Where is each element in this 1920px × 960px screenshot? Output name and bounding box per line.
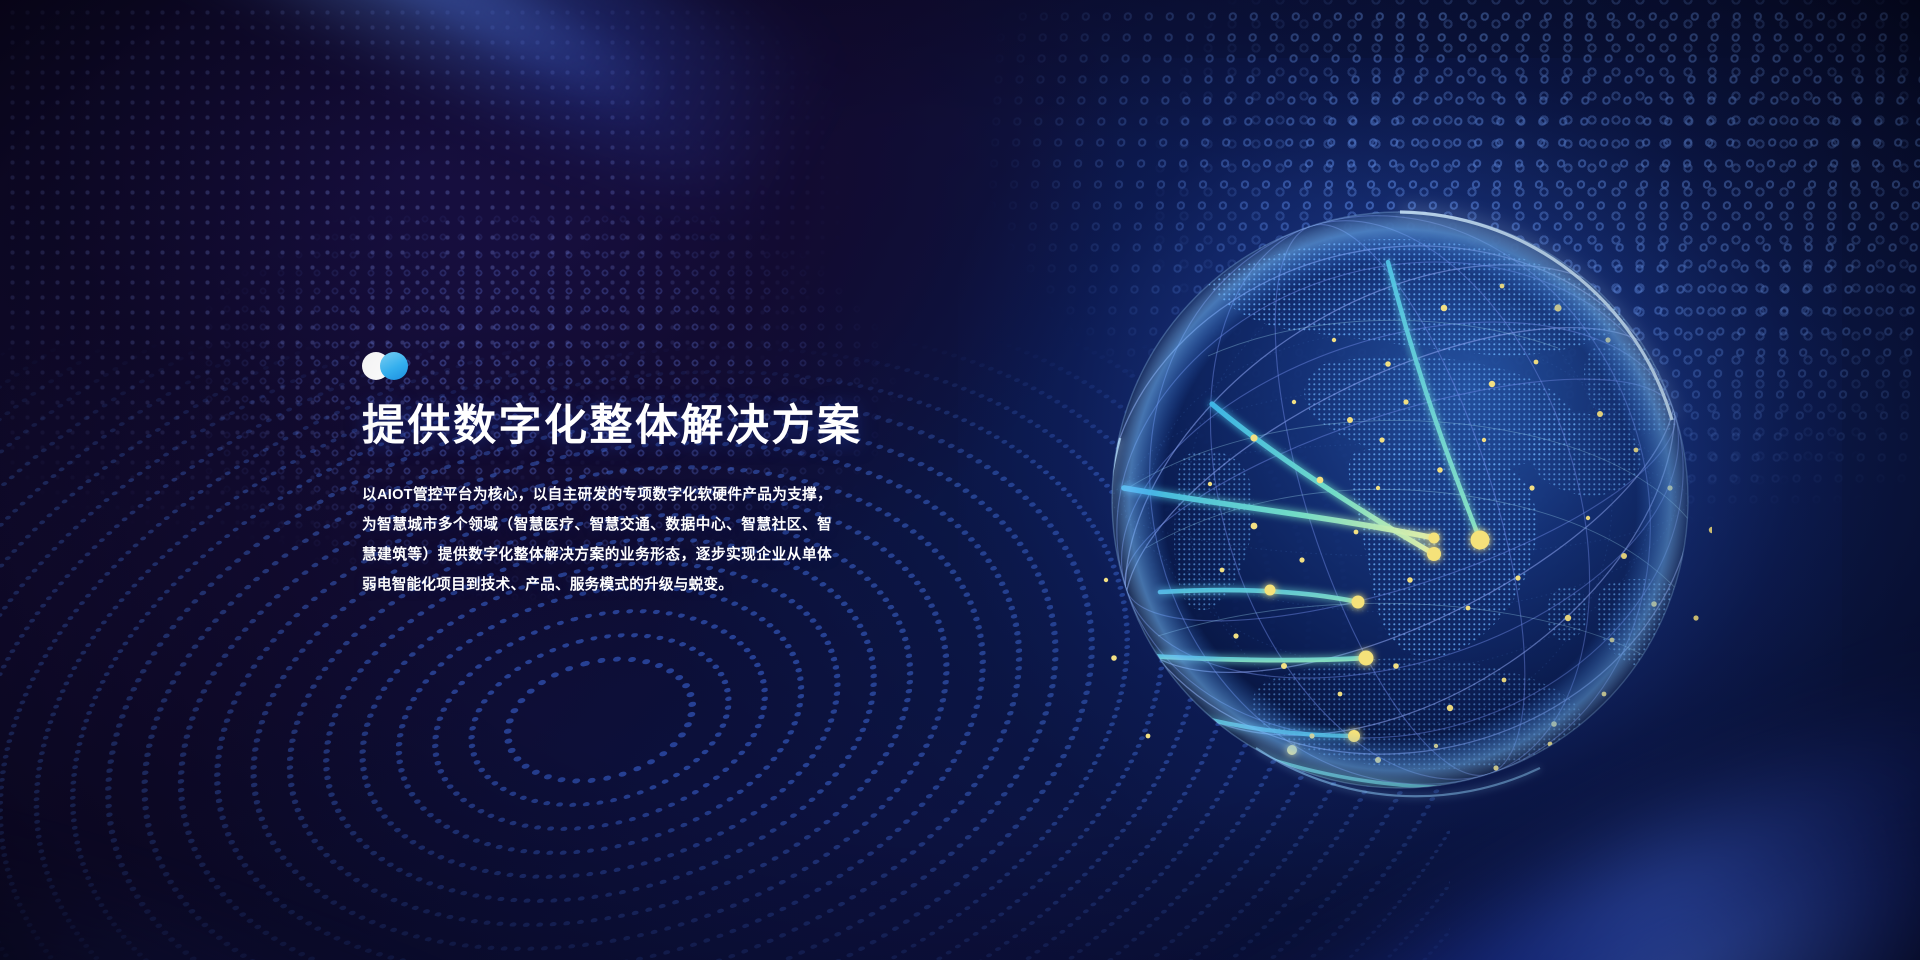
digital-globe-graphic [1088, 188, 1712, 812]
hero-banner: 提供数字化整体解决方案 以AIOT管控平台为核心，以自主研发的专项数字化软硬件产… [0, 0, 1920, 960]
brand-dual-circle-icon [362, 352, 426, 380]
globe-svg [1088, 188, 1712, 812]
page-title: 提供数字化整体解决方案 [362, 402, 962, 450]
hero-description: 以AIOT管控平台为核心，以自主研发的专项数字化软硬件产品为支撑，为智慧城市多个… [362, 480, 832, 600]
circle-blue-icon [380, 352, 408, 380]
hero-content: 提供数字化整体解决方案 以AIOT管控平台为核心，以自主研发的专项数字化软硬件产… [362, 352, 962, 600]
